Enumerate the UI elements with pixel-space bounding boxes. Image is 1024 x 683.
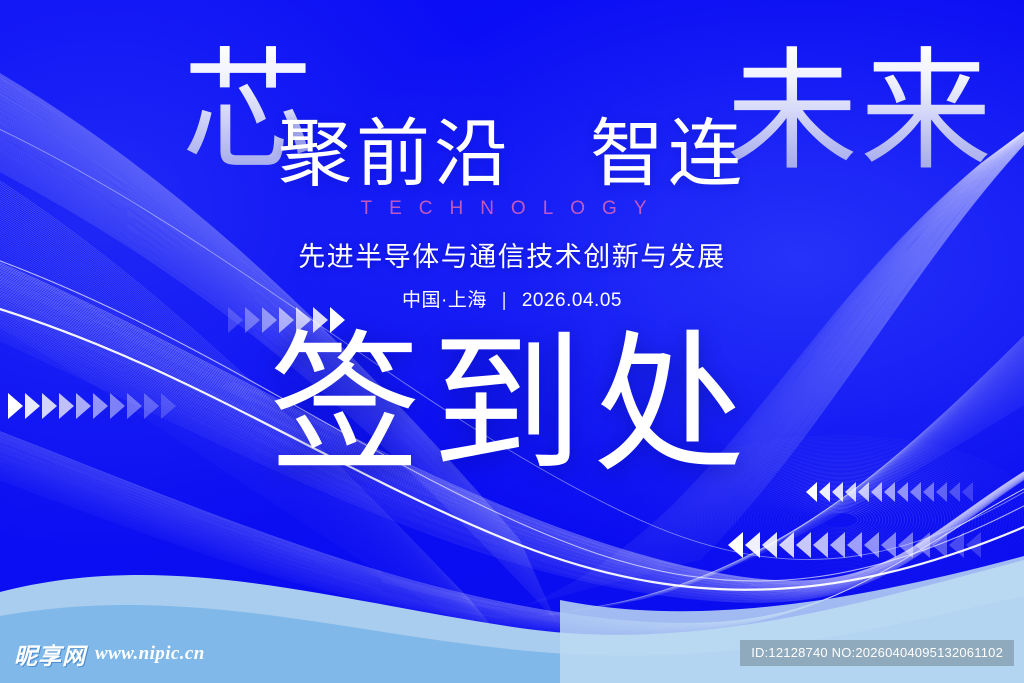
chevron-left-icon <box>864 532 879 558</box>
chevron-left-icon <box>897 482 908 502</box>
chevron-left-icon <box>858 482 869 502</box>
chevron-left-icon <box>923 482 934 502</box>
chevron-left-icon <box>762 532 777 558</box>
watermark-brand: 昵享网 www.nipic.cn <box>14 637 205 671</box>
chevron-left-icon <box>910 482 921 502</box>
meta-separator: | <box>493 290 516 312</box>
chevron-left-icon <box>745 532 760 558</box>
poster-canvas: 芯 未来 聚前沿 智连 TECHNOLOGY 先进半导体与通信技术创新与发展 中… <box>0 0 1024 683</box>
image-id-badge: ID:12128740 NO:20260404095132061102 <box>740 640 1014 666</box>
chevron-left-icon <box>881 532 896 558</box>
signin-headline: 签到处 <box>0 330 1024 482</box>
chevron-left-icon <box>962 482 973 502</box>
nipic-logo: 昵享网 <box>14 637 86 671</box>
chevron-left-icon <box>796 532 811 558</box>
headline-main: 聚前沿 智连 <box>0 118 1024 192</box>
chevron-left-icon <box>845 482 856 502</box>
chevron-left-icon <box>830 532 845 558</box>
chevron-left-icon <box>936 482 947 502</box>
chevron-left-icon <box>966 532 981 558</box>
chevron-strip-bottom-right <box>728 532 983 558</box>
chevron-left-icon <box>847 532 862 558</box>
chevron-left-icon <box>871 482 882 502</box>
event-meta: 中国·上海 | 2026.04.05 <box>0 285 1024 312</box>
chevron-left-icon <box>813 532 828 558</box>
chevron-left-icon <box>779 532 794 558</box>
chevron-left-icon <box>884 482 895 502</box>
chevron-left-icon <box>819 482 830 502</box>
event-date: 2026.04.05 <box>522 290 622 311</box>
chevron-left-icon <box>806 482 817 502</box>
chevron-strip-top-right <box>806 482 975 502</box>
chevron-left-icon <box>949 532 964 558</box>
event-location: 中国·上海 <box>402 290 487 311</box>
chevron-left-icon <box>832 482 843 502</box>
nipic-url: www.nipic.cn <box>95 643 205 665</box>
chevron-left-icon <box>898 532 913 558</box>
poster-subtitle: 先进半导体与通信技术创新与发展 <box>0 235 1024 274</box>
technology-wordmark: TECHNOLOGY <box>0 198 1024 220</box>
chevron-left-icon <box>915 532 930 558</box>
chevron-left-icon <box>728 532 743 558</box>
chevron-left-icon <box>949 482 960 502</box>
chevron-left-icon <box>932 532 947 558</box>
